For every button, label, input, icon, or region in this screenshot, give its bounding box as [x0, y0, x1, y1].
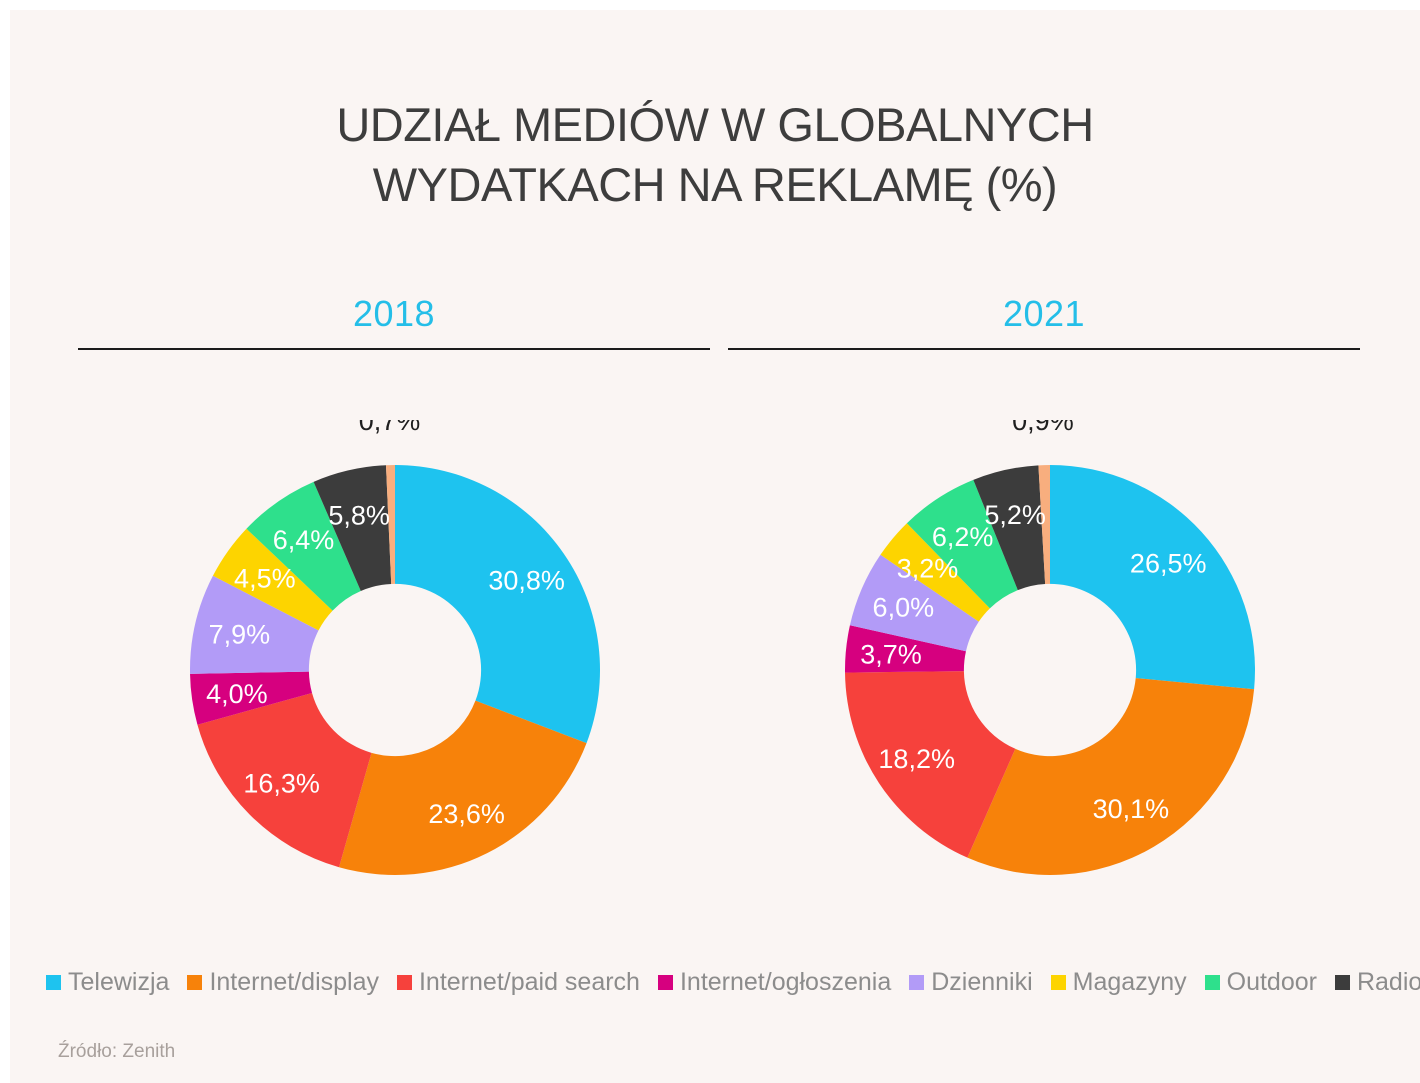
donut-svg: 30,8%23,6%16,3%4,0%7,9%4,5%6,4%5,8%0,7%	[115, 420, 675, 920]
donut-svg: 26,5%30,1%18,2%3,7%6,0%3,2%6,2%5,2%0,9%	[770, 420, 1330, 920]
legend-item[interactable]: Telewizja	[46, 968, 169, 996]
pie-slice[interactable]	[395, 465, 600, 743]
legend-label: Telewizja	[68, 968, 169, 996]
panel-year-label: 2018	[78, 290, 710, 338]
panel-divider-rule	[728, 348, 1360, 350]
page-title: UDZIAŁ MEDIÓW W GLOBALNYCH WYDATKACH NA …	[10, 95, 1420, 215]
legend-item[interactable]: Internet/display	[187, 968, 379, 996]
slice-value-label: 4,5%	[234, 563, 296, 593]
legend-item[interactable]: Magazyny	[1051, 968, 1187, 996]
panel-2018: 2018	[78, 290, 710, 350]
legend-item[interactable]: Internet/paid search	[397, 968, 640, 996]
legend-label: Internet/paid search	[419, 968, 640, 996]
legend-label: Internet/ogłoszenia	[680, 968, 891, 996]
slice-value-label: 0,9%	[1012, 420, 1074, 436]
legend-item[interactable]: Outdoor	[1205, 968, 1317, 996]
legend-item[interactable]: Radio	[1335, 968, 1420, 996]
legend-label: Outdoor	[1227, 968, 1317, 996]
legend-label: Magazyny	[1073, 968, 1187, 996]
source-note: Źródło: Zenith	[58, 1041, 175, 1063]
donut-chart-2018: 30,8%23,6%16,3%4,0%7,9%4,5%6,4%5,8%0,7%	[115, 420, 675, 920]
legend-swatch-icon	[1335, 975, 1350, 990]
slice-value-label: 5,2%	[984, 500, 1046, 530]
legend-item[interactable]: Dzienniki	[909, 968, 1032, 996]
slice-value-label: 6,0%	[873, 593, 935, 623]
legend-item[interactable]: Internet/ogłoszenia	[658, 968, 891, 996]
panel-divider-rule	[78, 348, 710, 350]
legend-swatch-icon	[909, 975, 924, 990]
slice-value-label: 30,1%	[1093, 794, 1170, 824]
slice-value-label: 6,4%	[273, 525, 335, 555]
slice-value-label: 4,0%	[206, 679, 268, 709]
legend-label: Radio	[1357, 968, 1420, 996]
legend-swatch-icon	[46, 975, 61, 990]
chart-legend: TelewizjaInternet/displayInternet/paid s…	[46, 968, 1396, 996]
chart-canvas: UDZIAŁ MEDIÓW W GLOBALNYCH WYDATKACH NA …	[10, 10, 1420, 1083]
donut-chart-2021: 26,5%30,1%18,2%3,7%6,0%3,2%6,2%5,2%0,9%	[770, 420, 1330, 920]
slice-value-label: 3,2%	[897, 553, 959, 583]
slice-value-label: 16,3%	[243, 769, 320, 799]
slice-value-label: 18,2%	[878, 744, 955, 774]
slice-value-label: 30,8%	[488, 565, 565, 595]
panel-year-label: 2021	[728, 290, 1360, 338]
legend-swatch-icon	[658, 975, 673, 990]
legend-label: Dzienniki	[931, 968, 1032, 996]
slice-value-label: 7,9%	[209, 620, 271, 650]
slice-value-label: 26,5%	[1130, 548, 1207, 578]
legend-swatch-icon	[1051, 975, 1066, 990]
legend-swatch-icon	[187, 975, 202, 990]
slice-value-label: 0,7%	[359, 420, 421, 436]
slice-value-label: 3,7%	[860, 639, 922, 669]
pie-slice[interactable]	[967, 678, 1254, 875]
panel-2021: 2021	[728, 290, 1360, 350]
slice-value-label: 5,8%	[328, 500, 390, 530]
slice-value-label: 23,6%	[428, 799, 505, 829]
legend-swatch-icon	[1205, 975, 1220, 990]
legend-swatch-icon	[397, 975, 412, 990]
legend-label: Internet/display	[209, 968, 379, 996]
